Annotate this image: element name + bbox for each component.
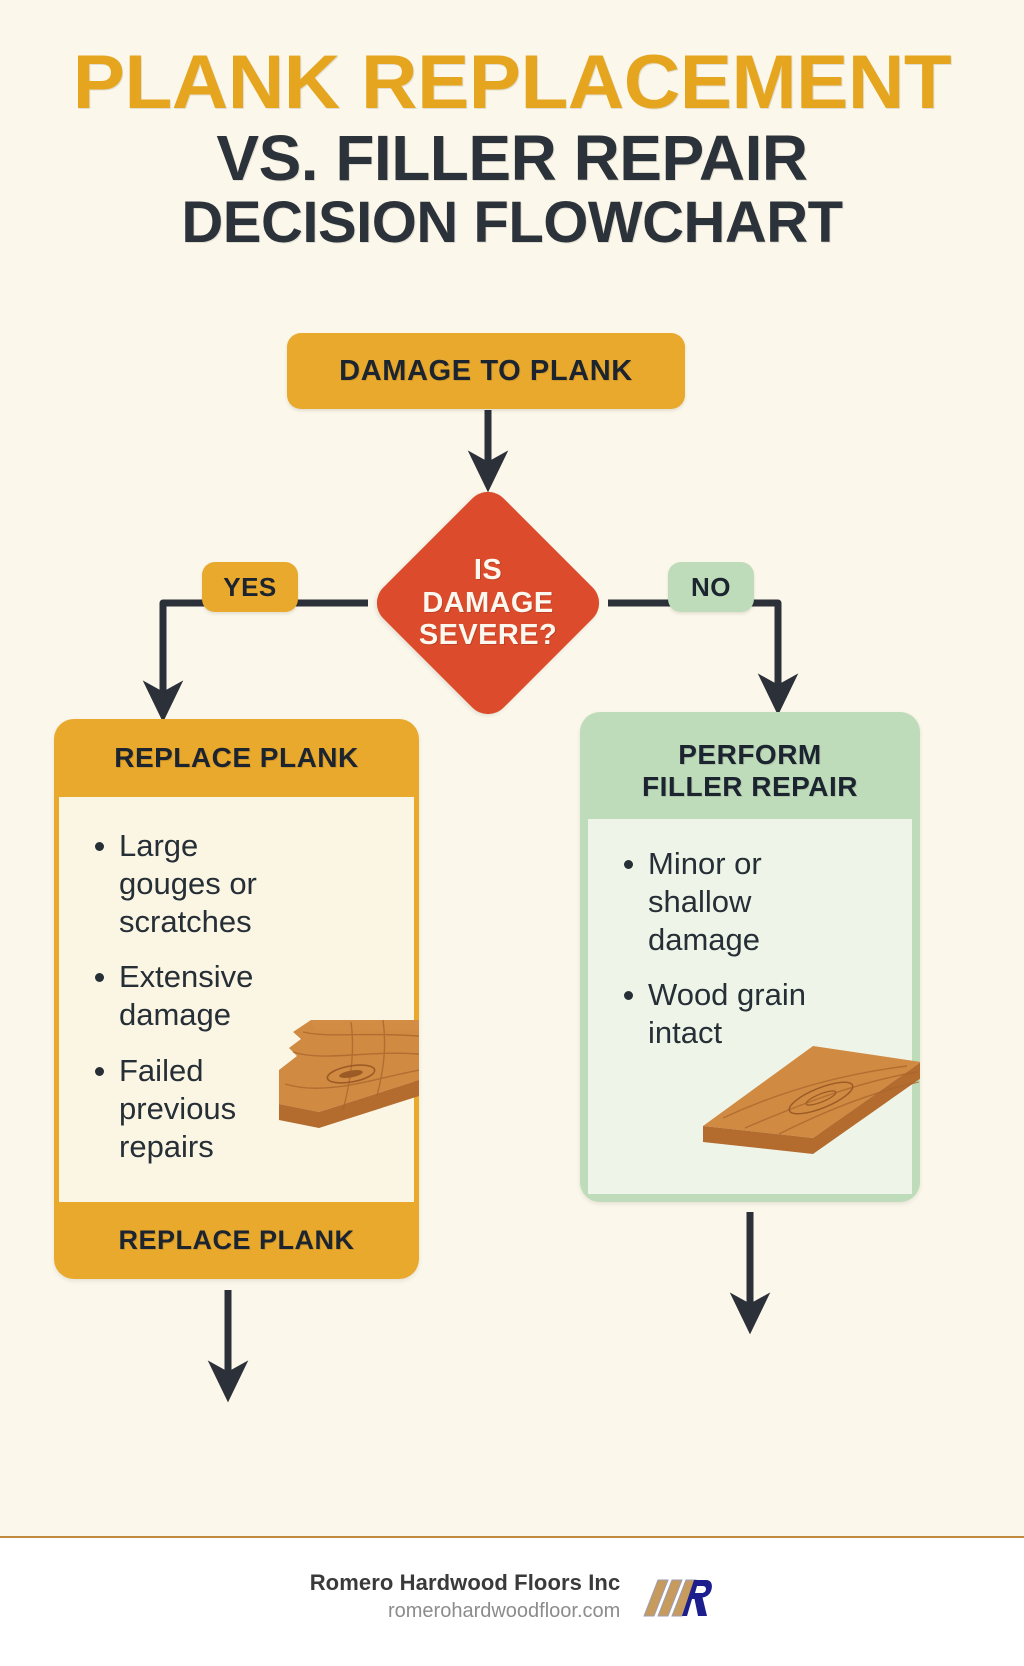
footer-bar: Romero Hardwood Floors Inc romerohardwoo… xyxy=(0,1538,1024,1666)
decision-label: IS DAMAGE SEVERE? xyxy=(368,483,608,723)
card-filler-repair-header: PERFORM FILLER REPAIR xyxy=(580,712,920,812)
decision-label-line-3: SEVERE? xyxy=(419,619,557,651)
romero-logo-icon xyxy=(642,1574,714,1620)
branch-badge-yes-label: YES xyxy=(223,572,277,603)
footer-company-name: Romero Hardwood Floors Inc xyxy=(310,1570,621,1596)
decision-label-line-1: IS xyxy=(474,554,502,586)
card-replace-plank-footer: REPLACE PLANK xyxy=(54,1202,419,1279)
list-item: Large gouges or scratches xyxy=(87,827,297,940)
node-damage-to-plank-label: DAMAGE TO PLANK xyxy=(339,355,633,388)
card-replace-plank[interactable]: REPLACE PLANK Large gouges or scratches … xyxy=(54,719,419,1279)
connector-yes-branch xyxy=(163,603,368,700)
branch-badge-yes[interactable]: YES xyxy=(202,562,298,612)
node-damage-to-plank[interactable]: DAMAGE TO PLANK xyxy=(287,333,685,409)
card-filler-repair-header-line-2: FILLER REPAIR xyxy=(642,771,858,803)
infographic-canvas: PLANK REPLACEMENT VS. FILLER REPAIR DECI… xyxy=(0,0,1024,1666)
list-item: Minor or shallow damage xyxy=(616,845,831,958)
connector-no-branch xyxy=(608,603,778,693)
decision-label-line-2: DAMAGE xyxy=(422,587,553,619)
footer-website-url[interactable]: romerohardwoodfloor.com xyxy=(310,1600,621,1623)
card-perform-filler-repair[interactable]: PERFORM FILLER REPAIR Minor or shallow d… xyxy=(580,712,920,1202)
intact-plank-icon xyxy=(693,1034,920,1169)
card-filler-repair-header-line-1: PERFORM xyxy=(678,739,822,771)
damaged-plank-icon xyxy=(259,992,419,1152)
branch-badge-no[interactable]: NO xyxy=(668,562,754,612)
node-decision-is-damage-severe[interactable]: IS DAMAGE SEVERE? xyxy=(368,483,608,723)
card-filler-repair-body: Minor or shallow damage Wood grain intac… xyxy=(588,819,912,1194)
card-replace-plank-header: REPLACE PLANK xyxy=(54,719,419,797)
branch-badge-no-label: NO xyxy=(691,572,731,603)
card-replace-plank-body: Large gouges or scratches Extensive dama… xyxy=(59,797,414,1202)
